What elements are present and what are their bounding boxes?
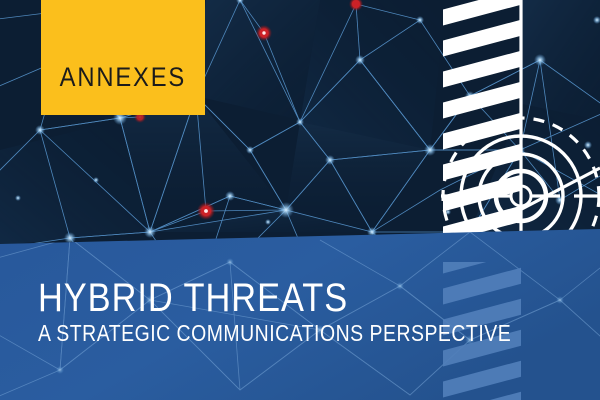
annexes-label: ANNEXES [60,62,187,93]
title-block: HYBRID THREATS A STRATEGIC COMMUNICATION… [38,278,558,347]
cover-page: ANNEXES HYBRID THREATS A STRATEGIC COMMU… [0,0,600,400]
annexes-badge: ANNEXES [41,0,205,115]
page-subtitle: A STRATEGIC COMMUNICATIONS PERSPECTIVE [38,320,477,347]
page-title: HYBRID THREATS [38,278,485,318]
